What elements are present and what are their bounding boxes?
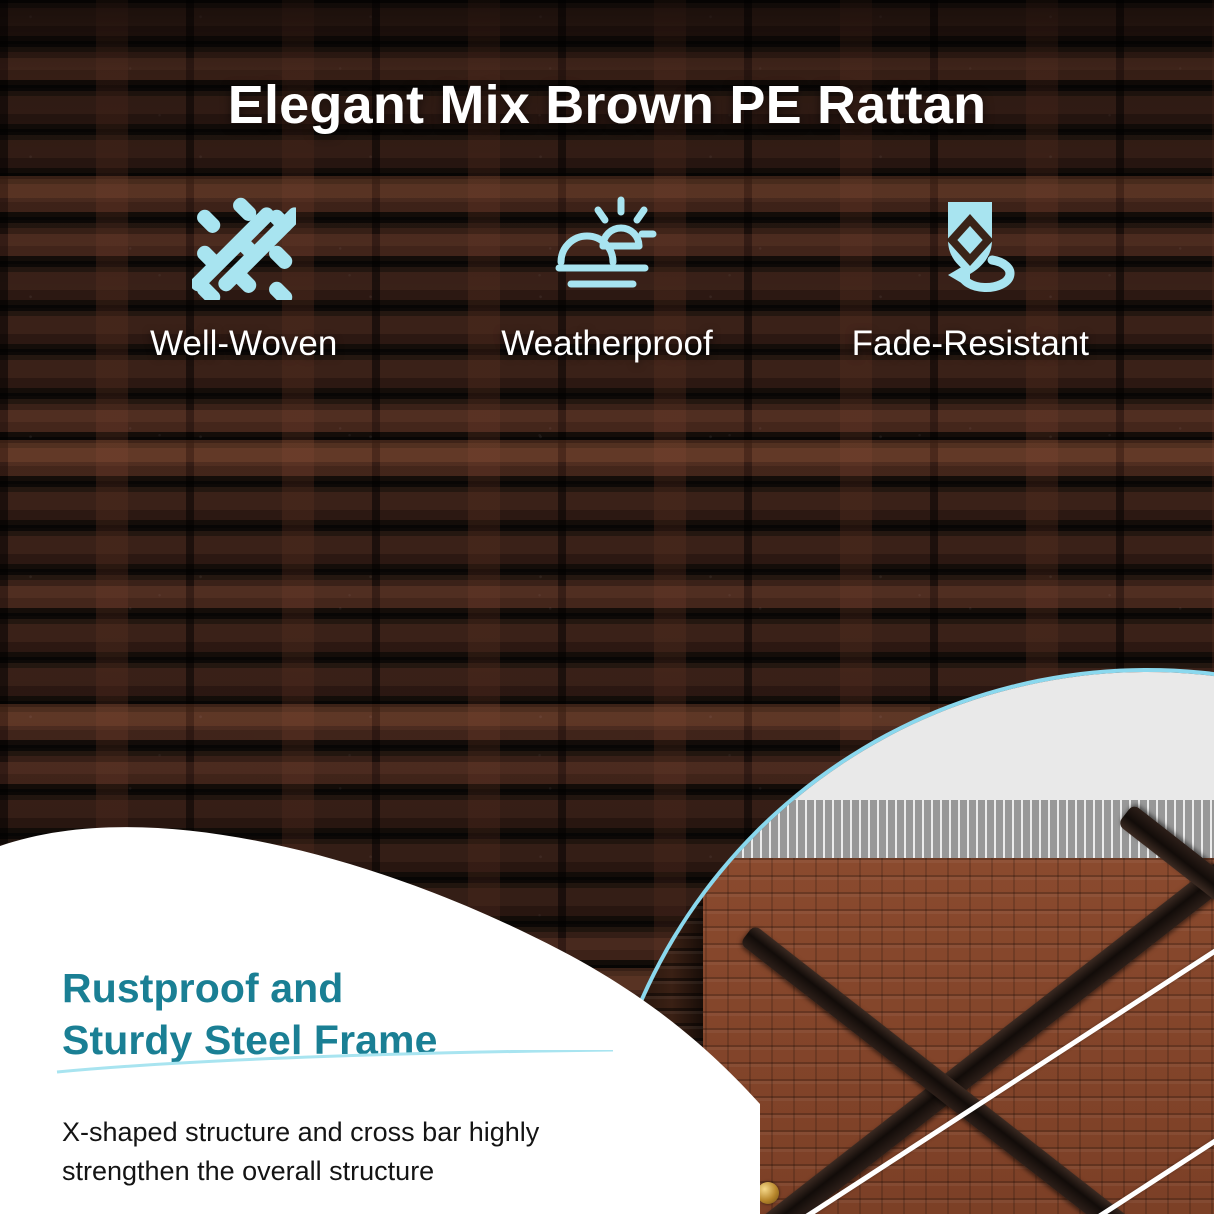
screw-icon [757, 1182, 779, 1204]
page-title: Elegant Mix Brown PE Rattan [0, 74, 1214, 136]
feature-item-weatherproof: Weatherproof [425, 196, 788, 364]
panel-heading: Rustproof and Sturdy Steel Frame [62, 962, 622, 1067]
feature-label: Well-Woven [150, 324, 337, 364]
panel-heading-line2: Sturdy Steel Frame [62, 1014, 622, 1066]
shield-refresh-icon [918, 196, 1022, 300]
panel-heading-line1: Rustproof and [62, 962, 622, 1014]
feature-item-well-woven: Well-Woven [62, 196, 425, 364]
product-feature-poster: Elegant Mix Brown PE Rattan [0, 0, 1214, 1214]
panel-body-text: X-shaped structure and cross bar highly … [62, 1113, 622, 1191]
sun-behind-cloud-icon [555, 196, 659, 300]
feature-label: Weatherproof [501, 324, 712, 364]
info-panel-text: Rustproof and Sturdy Steel Frame X-shape… [62, 962, 622, 1191]
woven-lattice-icon [192, 196, 296, 300]
feature-list: Well-Woven [62, 196, 1152, 364]
feature-item-fade-resistant: Fade-Resistant [789, 196, 1152, 364]
feature-label: Fade-Resistant [852, 324, 1089, 364]
rattan-panel [683, 858, 1214, 1214]
